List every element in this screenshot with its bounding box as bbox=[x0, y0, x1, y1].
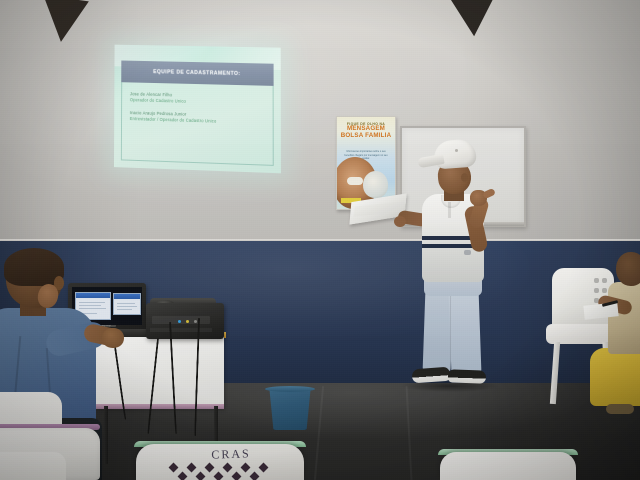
attendee-head bbox=[616, 252, 640, 286]
wall-upper-shading bbox=[0, 0, 640, 246]
attendee-torso bbox=[608, 282, 640, 354]
chair-lattice-hole bbox=[223, 463, 233, 473]
poster-smile bbox=[347, 177, 363, 185]
projector-vent-strip bbox=[150, 328, 212, 332]
chair-lattice-hole bbox=[250, 472, 260, 480]
projected-slide: EQUIPE DE CADASTRAMENTO: Jose de Alencar… bbox=[114, 45, 281, 174]
ceiling-bracket-left bbox=[37, 0, 89, 45]
projector-control-panel[interactable] bbox=[152, 316, 210, 324]
chair-foreground-right[interactable] bbox=[440, 452, 576, 480]
ceiling-bracket-right bbox=[450, 0, 500, 38]
chair-lattice-hole bbox=[178, 472, 188, 480]
chair-lattice-hole bbox=[205, 463, 215, 473]
chair-lattice-hole bbox=[187, 463, 197, 473]
poster-headline: FIQUE DE OLHO NA MENSAGEM BOLSA FAMILIA bbox=[337, 122, 395, 140]
presenter-right-shoe bbox=[448, 369, 486, 383]
presenter-trouser-seam bbox=[450, 292, 451, 370]
projector-led-grey bbox=[194, 320, 197, 323]
presenter-right-leg bbox=[449, 290, 482, 375]
slide-body: Jose de Alencar Filho Operador do Cadast… bbox=[130, 91, 269, 126]
blue-bucket[interactable] bbox=[267, 388, 313, 430]
projector-led-amber bbox=[186, 320, 189, 323]
photo-scene: EQUIPE DE CADASTRAMENTO: Jose de Alencar… bbox=[0, 0, 640, 480]
projector-led-blue bbox=[178, 320, 181, 323]
attendee-foot bbox=[606, 404, 634, 414]
presenter-ear bbox=[461, 173, 468, 182]
chair-lattice-hole bbox=[196, 472, 206, 480]
chair-cras-handwritten-label: CRAS bbox=[196, 446, 266, 463]
chair-lattice-hole bbox=[214, 472, 224, 480]
chair-lattice-hole bbox=[169, 463, 179, 473]
chair-bottom-left-partial[interactable] bbox=[0, 452, 66, 480]
slide-title-text: EQUIPE DE CADASTRAMENTO: bbox=[153, 69, 240, 77]
presenter-right-thumb bbox=[482, 188, 496, 199]
operator-hand-at-laptop bbox=[102, 328, 124, 348]
chair-lattice-hole bbox=[259, 463, 269, 473]
standing-presenter bbox=[398, 140, 516, 392]
presenter-shirt-placket bbox=[448, 202, 451, 218]
right-attendee bbox=[596, 256, 640, 480]
presenter-cap-button bbox=[455, 149, 458, 152]
slide-title-bar: EQUIPE DE CADASTRAMENTO: bbox=[121, 61, 273, 86]
presenter-shirt-logo bbox=[464, 250, 471, 255]
blue-bucket-rim bbox=[265, 386, 315, 392]
poster-subtext: Informacoes importantes sobre o seu bene… bbox=[344, 150, 388, 161]
poster-headline-line3: BOLSA FAMILIA bbox=[337, 133, 395, 140]
presenter-left-shoe bbox=[412, 367, 451, 384]
chair-lattice-hole bbox=[241, 463, 251, 473]
poster-hand-illustration bbox=[363, 171, 388, 198]
attendee-skirt bbox=[590, 348, 640, 406]
presenter-left-hand bbox=[394, 216, 406, 227]
chair-lattice-hole bbox=[232, 472, 242, 480]
